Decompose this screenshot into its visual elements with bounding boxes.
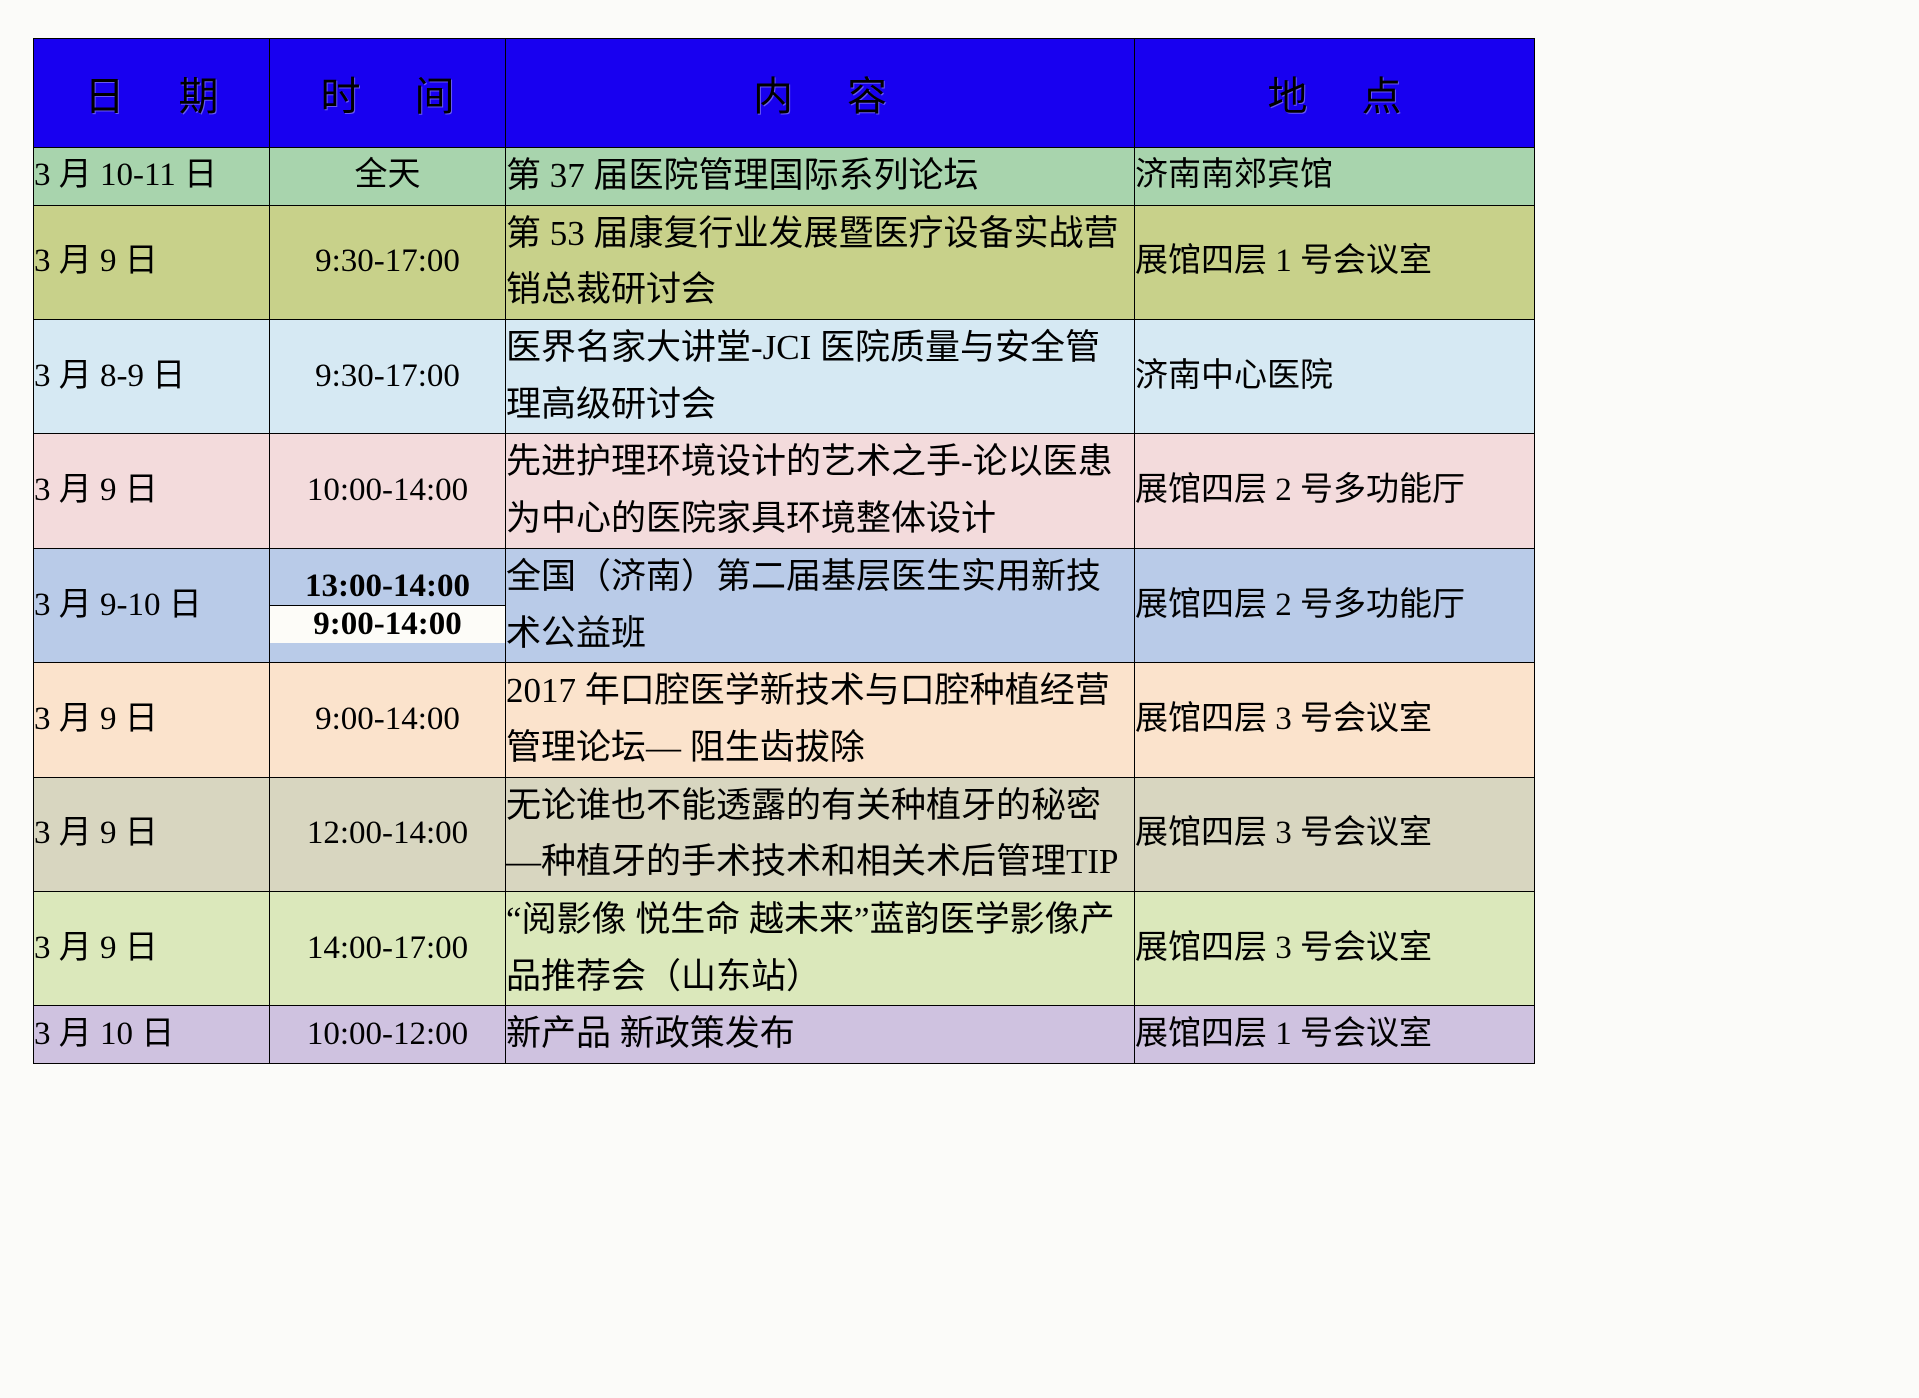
cell-venue: 展馆四层 3 号会议室 bbox=[1135, 663, 1535, 777]
cell-venue: 济南南郊宾馆 bbox=[1135, 148, 1535, 206]
cell-time: 13:00-14:009:00-14:00 bbox=[270, 548, 506, 662]
schedule-table: 日 期 时 间 内 容 地 点 3 月 10-11 日全天第 37 届医院管理国… bbox=[33, 38, 1535, 1064]
table-row: 3 月 9 日9:00-14:002017 年口腔医学新技术与口腔种植经营管理论… bbox=[34, 663, 1535, 777]
cell-date: 3 月 9 日 bbox=[34, 891, 270, 1005]
cell-date: 3 月 9-10 日 bbox=[34, 548, 270, 662]
cell-content: 2017 年口腔医学新技术与口腔种植经营管理论坛— 阻生齿拔除 bbox=[506, 663, 1135, 777]
cell-venue: 展馆四层 1 号会议室 bbox=[1135, 1006, 1535, 1064]
table-row: 3 月 8-9 日9:30-17:00医界名家大讲堂-JCI 医院质量与安全管理… bbox=[34, 320, 1535, 434]
header-row: 日 期 时 间 内 容 地 点 bbox=[34, 39, 1535, 148]
cell-venue: 展馆四层 2 号多功能厅 bbox=[1135, 548, 1535, 662]
cell-content: 全国（济南）第二届基层医生实用新技术公益班 bbox=[506, 548, 1135, 662]
cell-date: 3 月 9 日 bbox=[34, 777, 270, 891]
column-header-date: 日 期 bbox=[34, 39, 270, 148]
table-row: 3 月 9-10 日13:00-14:009:00-14:00全国（济南）第二届… bbox=[34, 548, 1535, 662]
cell-venue: 展馆四层 2 号多功能厅 bbox=[1135, 434, 1535, 548]
cell-date: 3 月 9 日 bbox=[34, 434, 270, 548]
cell-date: 3 月 9 日 bbox=[34, 205, 270, 319]
cell-content: 第 53 届康复行业发展暨医疗设备实战营销总裁研讨会 bbox=[506, 205, 1135, 319]
cell-content: “阅影像 悦生命 越未来”蓝韵医学影像产品推荐会（山东站） bbox=[506, 891, 1135, 1005]
cell-content: 新产品 新政策发布 bbox=[506, 1006, 1135, 1064]
cell-time-part: 9:00-14:00 bbox=[270, 606, 505, 644]
table-row: 3 月 9 日10:00-14:00先进护理环境设计的艺术之手-论以医患为中心的… bbox=[34, 434, 1535, 548]
table-row: 3 月 10 日10:00-12:00新产品 新政策发布展馆四层 1 号会议室 bbox=[34, 1006, 1535, 1064]
cell-time: 14:00-17:00 bbox=[270, 891, 506, 1005]
table-body: 3 月 10-11 日全天第 37 届医院管理国际系列论坛济南南郊宾馆3 月 9… bbox=[34, 148, 1535, 1064]
cell-time-part: 13:00-14:00 bbox=[270, 568, 505, 606]
table-header: 日 期 时 间 内 容 地 点 bbox=[34, 39, 1535, 148]
cell-venue: 济南中心医院 bbox=[1135, 320, 1535, 434]
column-header-venue: 地 点 bbox=[1135, 39, 1535, 148]
cell-content: 先进护理环境设计的艺术之手-论以医患为中心的医院家具环境整体设计 bbox=[506, 434, 1135, 548]
table-row: 3 月 9 日14:00-17:00“阅影像 悦生命 越未来”蓝韵医学影像产品推… bbox=[34, 891, 1535, 1005]
column-header-content: 内 容 bbox=[506, 39, 1135, 148]
cell-time: 12:00-14:00 bbox=[270, 777, 506, 891]
cell-time: 9:30-17:00 bbox=[270, 320, 506, 434]
table-row: 3 月 9 日12:00-14:00无论谁也不能透露的有关种植牙的秘密—种植牙的… bbox=[34, 777, 1535, 891]
cell-content: 第 37 届医院管理国际系列论坛 bbox=[506, 148, 1135, 206]
cell-date: 3 月 10-11 日 bbox=[34, 148, 270, 206]
cell-venue: 展馆四层 3 号会议室 bbox=[1135, 891, 1535, 1005]
cell-venue: 展馆四层 1 号会议室 bbox=[1135, 205, 1535, 319]
cell-venue: 展馆四层 3 号会议室 bbox=[1135, 777, 1535, 891]
cell-date: 3 月 9 日 bbox=[34, 663, 270, 777]
cell-content: 无论谁也不能透露的有关种植牙的秘密—种植牙的手术技术和相关术后管理TIP bbox=[506, 777, 1135, 891]
cell-time: 9:00-14:00 bbox=[270, 663, 506, 777]
column-header-time: 时 间 bbox=[270, 39, 506, 148]
cell-date: 3 月 8-9 日 bbox=[34, 320, 270, 434]
cell-time: 全天 bbox=[270, 148, 506, 206]
table-row: 3 月 9 日9:30-17:00第 53 届康复行业发展暨医疗设备实战营销总裁… bbox=[34, 205, 1535, 319]
cell-time: 10:00-12:00 bbox=[270, 1006, 506, 1064]
schedule-sheet: 日 期 时 间 内 容 地 点 3 月 10-11 日全天第 37 届医院管理国… bbox=[33, 38, 1534, 1064]
cell-date: 3 月 10 日 bbox=[34, 1006, 270, 1064]
table-row: 3 月 10-11 日全天第 37 届医院管理国际系列论坛济南南郊宾馆 bbox=[34, 148, 1535, 206]
split-time-table: 13:00-14:009:00-14:00 bbox=[270, 568, 505, 643]
cell-content: 医界名家大讲堂-JCI 医院质量与安全管理高级研讨会 bbox=[506, 320, 1135, 434]
cell-time: 9:30-17:00 bbox=[270, 205, 506, 319]
cell-time: 10:00-14:00 bbox=[270, 434, 506, 548]
